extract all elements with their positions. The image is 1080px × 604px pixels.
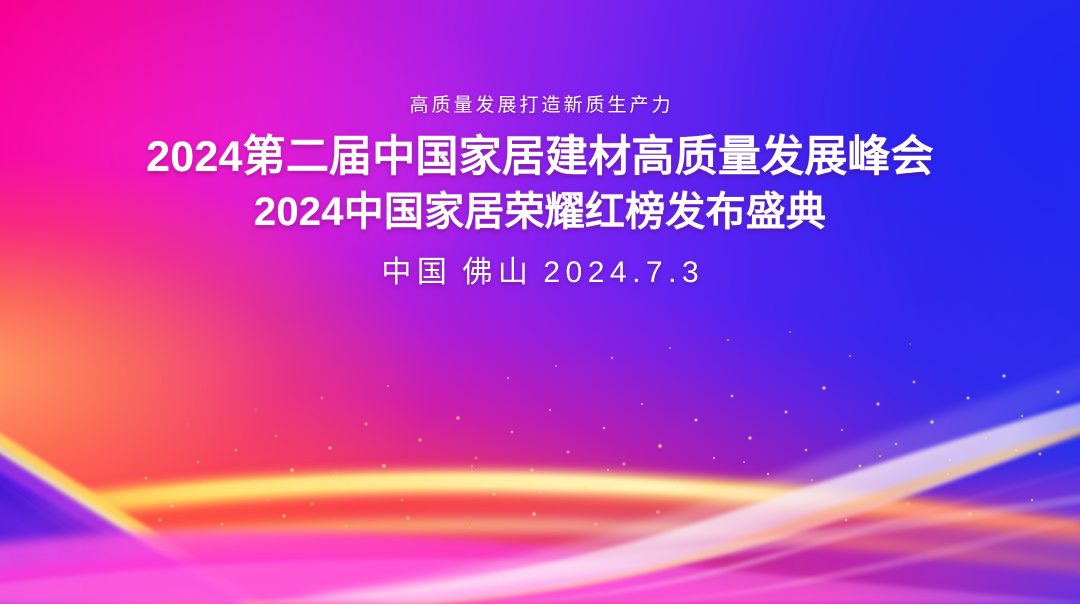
event-poster: 高质量发展打造新质生产力 2024第二届中国家居建材高质量发展峰会 2024中国… <box>0 0 1080 604</box>
poster-venue-date: 中国佛山2024.7.3 <box>0 255 1080 291</box>
venue-city: 佛山 <box>462 256 533 289</box>
poster-text-block: 高质量发展打造新质生产力 2024第二届中国家居建材高质量发展峰会 2024中国… <box>0 0 1080 291</box>
poster-title-line-2: 2024中国家居荣耀红榜发布盛典 <box>0 186 1080 238</box>
poster-title-line-1: 2024第二届中国家居建材高质量发展峰会 <box>0 130 1080 186</box>
poster-kicker: 高质量发展打造新质生产力 <box>0 94 1080 118</box>
poster-title: 2024第二届中国家居建材高质量发展峰会 2024中国家居荣耀红榜发布盛典 <box>0 130 1080 238</box>
venue-date: 2024.7.3 <box>543 256 704 289</box>
venue-country: 中国 <box>381 256 452 289</box>
